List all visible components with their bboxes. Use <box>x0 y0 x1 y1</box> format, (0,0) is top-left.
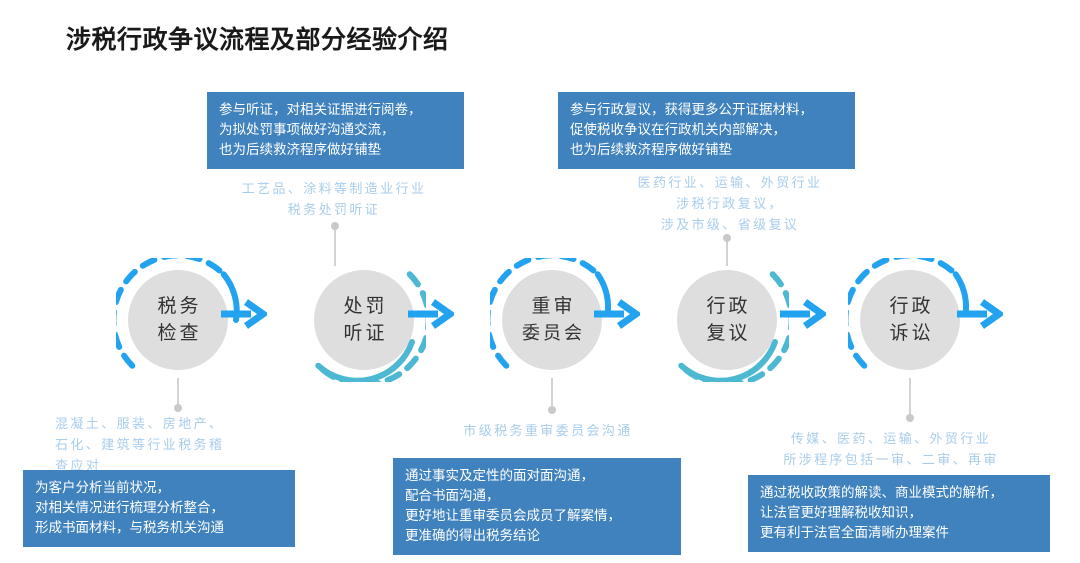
annotation-line: 医药行业、运输、外贸行业 <box>615 172 845 193</box>
pin-dot <box>174 404 182 412</box>
annotation-line: 所涉程序包括一审、二审、再审 <box>760 449 1022 470</box>
flow-arrow-2 <box>408 297 454 331</box>
callout-line: 也为后续救济程序做好铺垫 <box>570 140 843 160</box>
callout-bottom-center: 通过事实及定性的面对面沟通， 配合书面沟通， 更好地让重审委员会成员了解案情， … <box>393 458 681 555</box>
callout-line: 更有利于法官全面清晰办理案件 <box>760 523 1038 543</box>
annotation-line: 市级税务重审委员会沟通 <box>428 420 668 441</box>
step-node-4[interactable]: 行政 复议 <box>665 258 789 382</box>
connector-pin-step3-bottom <box>547 378 557 412</box>
callout-bottom-right: 通过税收政策的解读、商业模式的解析， 让法官更好理解税收知识， 更有利于法官全面… <box>748 475 1050 552</box>
callout-line: 参与听证，对相关证据进行阅卷， <box>219 100 452 120</box>
annotation-top-step2: 工艺品、涂料等制造业行业 税务处罚听证 <box>203 178 465 220</box>
callout-line: 更准确的得出税务结论 <box>405 526 669 546</box>
step-label-line: 诉讼 <box>886 320 933 347</box>
callout-line: 配合书面沟通， <box>405 486 669 506</box>
step-node-5[interactable]: 行政 诉讼 <box>848 258 972 382</box>
annotation-line: 混凝土、服装、房地产、 <box>55 413 295 434</box>
step-label-line: 重审 <box>528 293 575 320</box>
annotation-bottom-step5: 传媒、医药、运输、外贸行业 所涉程序包括一审、二审、再审 <box>760 428 1022 470</box>
callout-top-right: 参与行政复议，获得更多公开证据材料， 促使税收争议在行政机关内部解决， 也为后续… <box>558 92 855 169</box>
step-label-line: 听证 <box>340 320 387 347</box>
pin-dot <box>331 222 339 230</box>
flow-arrow-5 <box>957 297 1003 331</box>
annotation-bottom-step1: 混凝土、服装、房地产、 石化、建筑等行业税务稽 查应对 <box>55 413 295 476</box>
step-label-line: 行政 <box>886 293 933 320</box>
annotation-line: 石化、建筑等行业税务稽 <box>55 434 295 455</box>
flow-arrow-3 <box>594 297 640 331</box>
flow-arrow-4 <box>780 297 826 331</box>
pin-dot <box>906 414 914 422</box>
step-label-4: 行政 复议 <box>665 258 789 382</box>
diagram-canvas: 涉税行政争议流程及部分经验介绍 参与听证，对相关证据进行阅卷， 为拟处罚事项做好… <box>0 0 1080 563</box>
annotation-line: 传媒、医药、运输、外贸行业 <box>760 428 1022 449</box>
step-label-line: 检查 <box>154 320 201 347</box>
page-title: 涉税行政争议流程及部分经验介绍 <box>66 20 449 56</box>
connector-pin-step1-bottom <box>173 378 183 410</box>
step-label-line: 委员会 <box>519 320 585 347</box>
callout-line: 形成书面材料，与税务机关沟通 <box>35 518 283 538</box>
annotation-line: 涉税行政复议， <box>615 193 845 214</box>
callout-line: 促使税收争议在行政机关内部解决， <box>570 120 843 140</box>
connector-pin-step5-bottom <box>905 378 915 420</box>
callout-top-left: 参与听证，对相关证据进行阅卷， 为拟处罚事项做好沟通交流， 也为后续救济程序做好… <box>207 92 464 169</box>
callout-line: 为拟处罚事项做好沟通交流， <box>219 120 452 140</box>
callout-bottom-left: 为客户分析当前状况， 对相关情况进行梳理分析整合， 形成书面材料，与税务机关沟通 <box>23 470 295 547</box>
callout-line: 通过事实及定性的面对面沟通， <box>405 466 669 486</box>
step-label-line: 税务 <box>154 293 201 320</box>
callout-line: 通过税收政策的解读、商业模式的解析， <box>760 483 1038 503</box>
annotation-line: 税务处罚听证 <box>203 199 465 220</box>
step-label-5: 行政 诉讼 <box>848 258 972 382</box>
callout-line: 参与行政复议，获得更多公开证据材料， <box>570 100 843 120</box>
step-label-line: 复议 <box>703 320 750 347</box>
step-label-line: 行政 <box>703 293 750 320</box>
annotation-bottom-step3: 市级税务重审委员会沟通 <box>428 420 668 441</box>
pin-dot <box>723 234 731 242</box>
callout-line: 为客户分析当前状况， <box>35 478 283 498</box>
annotation-line: 涉及市级、省级复议 <box>615 214 845 235</box>
callout-line: 让法官更好理解税收知识， <box>760 503 1038 523</box>
pin-dot <box>548 406 556 414</box>
step-label-line: 处罚 <box>340 293 387 320</box>
annotation-line: 工艺品、涂料等制造业行业 <box>203 178 465 199</box>
callout-line: 对相关情况进行梳理分析整合， <box>35 498 283 518</box>
annotation-top-step4: 医药行业、运输、外贸行业 涉税行政复议， 涉及市级、省级复议 <box>615 172 845 235</box>
callout-line: 也为后续救济程序做好铺垫 <box>219 140 452 160</box>
flow-arrow-1 <box>221 297 267 331</box>
callout-line: 更好地让重审委员会成员了解案情， <box>405 506 669 526</box>
